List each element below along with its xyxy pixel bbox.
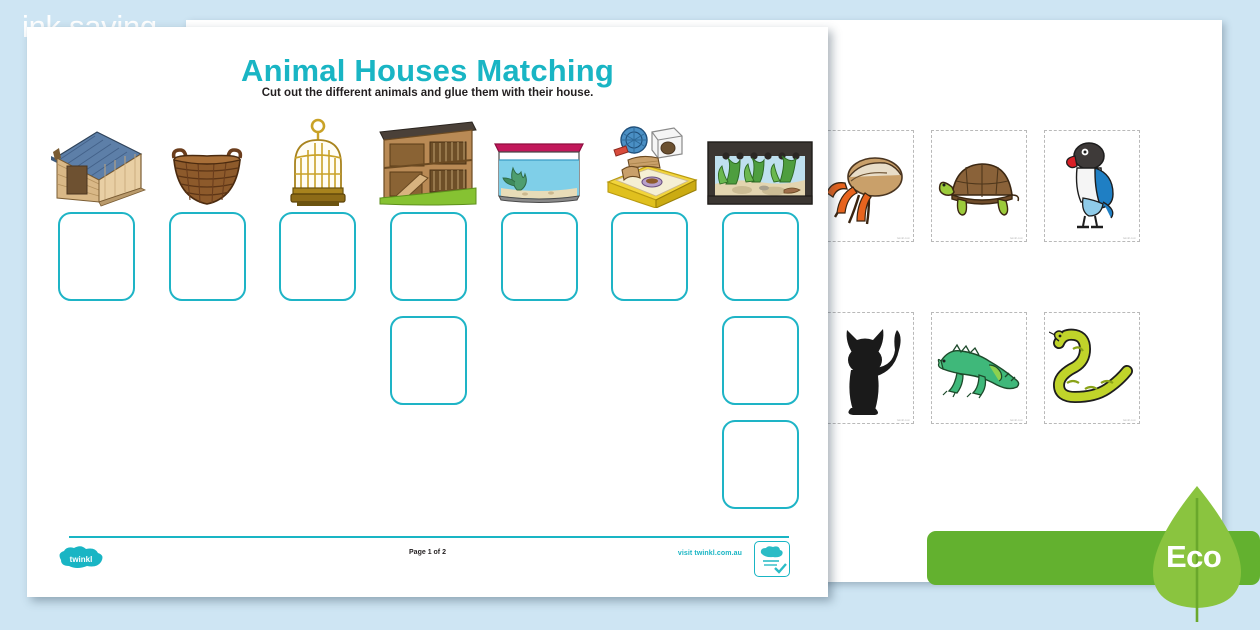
footer-divider: [69, 536, 789, 538]
house-cell-fish-tank: [484, 112, 595, 208]
card-watermark: twinkl.com: [1123, 419, 1136, 422]
answer-box[interactable]: [722, 316, 799, 405]
answer-column-bird-cage: [262, 212, 373, 524]
card-watermark: twinkl.com: [1123, 237, 1136, 240]
house-cell-wicker-basket: [152, 112, 263, 208]
iguana-card[interactable]: twinkl.com: [931, 312, 1027, 424]
tortoise-icon: [936, 151, 1022, 221]
twinkl-badge-logo-icon: [755, 542, 787, 574]
answer-box[interactable]: [611, 212, 688, 301]
hermit-crab-icon: [823, 147, 909, 225]
parrot-icon: [1055, 140, 1129, 232]
page-footer: Page 1 of 2 visit twinkl.com.au twinkl: [27, 540, 828, 586]
card-watermark: twinkl.com: [1010, 237, 1023, 240]
answer-column-dog-house: [41, 212, 152, 524]
hamster-cage-icon: [600, 124, 700, 208]
house-cell-dog-house: [41, 112, 152, 208]
answer-box[interactable]: [58, 212, 135, 301]
footer-url-label[interactable]: visit twinkl.com.au: [678, 550, 742, 557]
card-watermark: twinkl.com: [897, 237, 910, 240]
answer-box[interactable]: [169, 212, 246, 301]
answer-box[interactable]: [279, 212, 356, 301]
snake-card[interactable]: twinkl.com: [1044, 312, 1140, 424]
house-cell-hamster-cage: [594, 112, 705, 208]
bird-cage-icon: [287, 118, 349, 208]
answer-column-terrarium: [705, 212, 816, 524]
cat-card[interactable]: twinkl.com: [818, 312, 914, 424]
answer-box[interactable]: [501, 212, 578, 301]
house-cell-terrarium: [705, 112, 816, 208]
page-subtitle: Cut out the different animals and glue t…: [27, 87, 828, 99]
answer-box[interactable]: [390, 212, 467, 301]
snake-icon: [1049, 327, 1135, 409]
answer-box[interactable]: [722, 212, 799, 301]
twinkl-badge: [754, 541, 790, 577]
twinkl-logo: twinkl: [55, 544, 107, 574]
wicker-basket-icon: [166, 142, 248, 208]
answer-box[interactable]: [390, 316, 467, 405]
parrot-card[interactable]: twinkl.com: [1044, 130, 1140, 242]
eco-label: Eco: [1166, 539, 1221, 575]
answer-column-hamster-cage: [594, 212, 705, 524]
rabbit-hutch-icon: [376, 116, 480, 208]
twinkl-logo-text: twinkl: [70, 555, 93, 564]
house-cell-bird-cage: [262, 112, 373, 208]
answer-box-grid: [41, 212, 816, 524]
twinkl-cloud-logo-icon: twinkl: [55, 544, 107, 574]
hermit-crab-card[interactable]: twinkl.com: [818, 130, 914, 242]
dog-house-icon: [45, 124, 147, 208]
card-watermark: twinkl.com: [897, 419, 910, 422]
tortoise-card[interactable]: twinkl.com: [931, 130, 1027, 242]
house-picture-row: [41, 112, 816, 208]
answer-box[interactable]: [722, 420, 799, 509]
iguana-icon: [935, 335, 1023, 401]
answer-column-rabbit-hutch: [373, 212, 484, 524]
answer-column-fish-tank: [484, 212, 595, 524]
card-watermark: twinkl.com: [1010, 419, 1023, 422]
house-cell-rabbit-hutch: [373, 112, 484, 208]
page-title: Animal Houses Matching: [27, 53, 828, 89]
cat-icon: [823, 320, 909, 416]
fish-tank-icon: [491, 138, 587, 208]
worksheet-page-sheet[interactable]: Animal Houses Matching Cut out the diffe…: [27, 27, 828, 597]
terrarium-icon: [706, 138, 814, 208]
answer-column-wicker-basket: [152, 212, 263, 524]
